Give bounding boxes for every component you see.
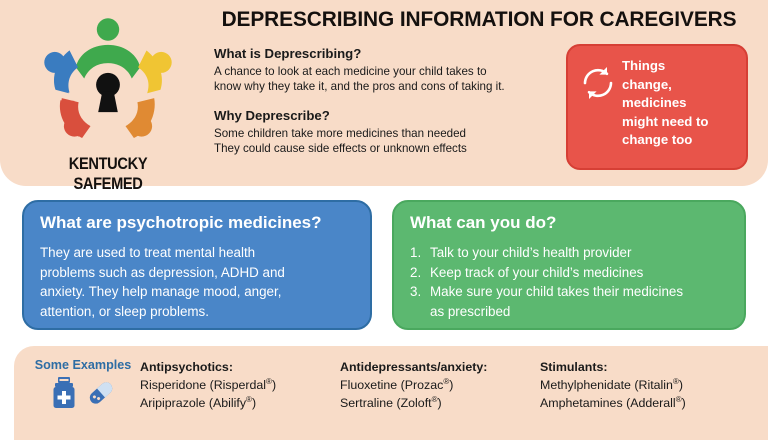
why-deprescribe-line2: They could cause side effects or unknown… — [214, 141, 554, 156]
callout-line-5: change too — [622, 131, 738, 150]
drug-name: Aripiprazole (Abilify — [140, 396, 246, 410]
drug-item: Aripiprazole (Abilify®) — [140, 395, 350, 413]
psychotropic-card-heading: What are psychotropic medicines? — [40, 212, 354, 234]
things-change-callout: Things change, medicines might need to c… — [566, 44, 748, 170]
what-is-deprescribing-line2: know why they take it, and the pros and … — [214, 79, 554, 94]
drug-name: Risperidone (Risperdal — [140, 378, 266, 392]
drug-suffix: ) — [252, 396, 256, 410]
drug-item: Amphetamines (Adderall®) — [540, 395, 768, 413]
medicine-bottle-icon — [49, 376, 79, 410]
drug-name: Sertraline (Zoloft — [340, 396, 432, 410]
psychotropic-line-1: They are used to treat mental health — [40, 243, 354, 263]
psychotropic-line-3: anxiety. They help manage mood, anger, — [40, 282, 354, 302]
drug-name: Fluoxetine (Prozac — [340, 378, 443, 392]
callout-line-3: medicines — [622, 94, 738, 113]
some-examples-label: Some Examples — [28, 358, 138, 372]
what-can-you-do-heading: What can you do? — [410, 212, 728, 234]
list-item-label: Keep track of your child’s medicines — [430, 263, 728, 283]
callout-line-2: change, — [622, 76, 738, 95]
drug-name: Methylphenidate (Ritalin — [540, 378, 673, 392]
drug-item: Methylphenidate (Ritalin®) — [540, 377, 768, 395]
header-panel: KENTUCKY SAFEMED DEPRESCRIBING INFORMATI… — [0, 0, 768, 186]
psychotropic-medicines-card: What are psychotropic medicines? They ar… — [22, 200, 372, 330]
list-item: 3. Make sure your child takes their medi… — [410, 282, 728, 302]
list-item: 2. Keep track of your child’s medicines — [410, 263, 728, 283]
drug-item: Fluoxetine (Prozac®) — [340, 377, 550, 395]
list-item-label: Talk to your child’s health provider — [430, 243, 728, 263]
list-item: 1. Talk to your child’s health provider — [410, 243, 728, 263]
text-spacer — [214, 95, 554, 107]
drug-suffix: ) — [272, 378, 276, 392]
drug-column-antidepressants: Antidepressants/anxiety: Fluoxetine (Pro… — [340, 358, 550, 412]
drug-suffix: ) — [679, 378, 683, 392]
capsule-pill-icon — [85, 377, 117, 409]
list-item-label: as prescribed — [430, 302, 728, 322]
examples-panel: Some Examples Antipsychotics: Risperidon… — [14, 346, 768, 440]
drug-suffix: ) — [438, 396, 442, 410]
list-item-number: 2. — [410, 263, 430, 283]
things-change-text: Things change, medicines might need to c… — [618, 57, 738, 150]
psychotropic-line-4: attention, or sleep problems. — [40, 302, 354, 322]
drug-item: Sertraline (Zoloft®) — [340, 395, 550, 413]
people-circle-keyhole-logo-icon — [38, 18, 178, 153]
refresh-cycle-icon — [578, 63, 618, 108]
drug-suffix: ) — [449, 378, 453, 392]
what-is-deprescribing-heading: What is Deprescribing? — [214, 45, 554, 63]
drug-column-heading: Stimulants: — [540, 358, 768, 376]
list-item-label: Make sure your child takes their medicin… — [430, 282, 728, 302]
psychotropic-card-body: They are used to treat mental health pro… — [40, 243, 354, 321]
list-item: as prescribed — [410, 302, 728, 322]
drug-column-antipsychotics: Antipsychotics: Risperidone (Risperdal®)… — [140, 358, 350, 412]
page-title: DEPRESCRIBING INFORMATION FOR CAREGIVERS — [204, 7, 753, 32]
drug-column-heading: Antidepressants/anxiety: — [340, 358, 550, 376]
callout-line-1: Things — [622, 57, 738, 76]
list-item-number: 1. — [410, 243, 430, 263]
kentucky-safemed-logo: KENTUCKY SAFEMED — [22, 18, 194, 178]
why-deprescribe-heading: Why Deprescribe? — [214, 107, 554, 125]
what-can-you-do-list: 1. Talk to your child’s health provider … — [410, 243, 728, 321]
list-item-number: 3. — [410, 282, 430, 302]
what-is-deprescribing-line1: A chance to look at each medicine your c… — [214, 64, 554, 79]
drug-name: Amphetamines (Adderall — [540, 396, 676, 410]
psychotropic-line-2: problems such as depression, ADHD and — [40, 263, 354, 283]
drug-column-stimulants: Stimulants: Methylphenidate (Ritalin®) A… — [540, 358, 768, 412]
intro-text-block: What is Deprescribing? A chance to look … — [214, 45, 554, 157]
callout-line-4: might need to — [622, 113, 738, 132]
drug-column-heading: Antipsychotics: — [140, 358, 350, 376]
why-deprescribe-line1: Some children take more medicines than n… — [214, 126, 554, 141]
drug-item: Risperidone (Risperdal®) — [140, 377, 350, 395]
examples-icon-group — [28, 376, 138, 410]
logo-wordmark: KENTUCKY SAFEMED — [34, 154, 182, 194]
what-can-you-do-card: What can you do? 1. Talk to your child’s… — [392, 200, 746, 330]
drug-suffix: ) — [682, 396, 686, 410]
